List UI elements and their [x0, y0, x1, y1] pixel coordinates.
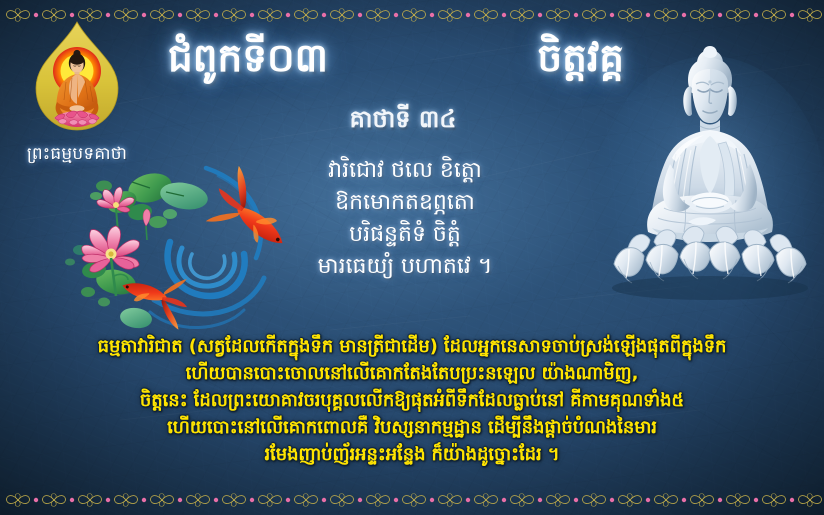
pali-verse-line: ឱកមោកតឧព្ភតោ [200, 187, 610, 219]
pali-verse-block: វារិជោវ ថលេ ខិត្តោ ឱកមោកតឧព្ភតោ បរិផន្ទត… [200, 155, 610, 283]
dhammapada-emblem: ព្រះធម្មបទគាថា [14, 18, 140, 168]
khmer-translation-line: ហើយបានបោះចោលនៅលើគោកតែងតែបប្រះនឡេល យ៉ាងណា… [10, 360, 814, 387]
pali-verse-line: វារិជោវ ថលេ ខិត្តោ [200, 155, 610, 187]
bodhi-leaf-buddha-icon [14, 18, 140, 144]
decorative-knot-border-bottom [0, 487, 824, 513]
dhammapada-poster: ព្រះធម្មបទគាថា [0, 0, 824, 515]
pali-verse-line: មារធេយ្យំ បហាតវេ ។ [200, 251, 610, 283]
khmer-translation-line: ចិត្តនេះ ដែលព្រះយោគាវចរបុគ្គលលើកឱ្យផុតអំ… [10, 387, 814, 414]
emblem-caption: ព្រះធម្មបទគាថា [14, 144, 140, 164]
khmer-translation-line: ហើយបោះនៅលើគោកពោលគឺ វិបស្សនាកម្មដ្ឋាន ដើម… [10, 414, 814, 441]
lotus-bud [143, 209, 150, 240]
chapter-title-row: ជំពូកទី០៣ ចិត្តវគ្គ [168, 36, 638, 82]
pali-verse-line: បរិផន្ទតិទំ ចិត្តំ [200, 219, 610, 251]
khmer-translation-line: រមែងញាប់ញ័រអន្ទះអន្ទែង ក៏យ៉ាងដូច្នោះដែរ … [10, 441, 814, 468]
khmer-translation-block: ធម្មតាវារិជាត (សត្វដែលកើតក្នុងទឹក មានត្រ… [10, 333, 814, 468]
verse-number-label: គាថាទី ៣៤ [168, 104, 638, 134]
chapter-name-label: ចិត្តវគ្គ [537, 36, 624, 82]
chapter-number-label: ជំពូកទី០៣ [168, 36, 328, 82]
white-marble-buddha-statue [592, 36, 824, 344]
khmer-translation-line: ធម្មតាវារិជាត (សត្វដែលកើតក្នុងទឹក មានត្រ… [10, 333, 814, 360]
